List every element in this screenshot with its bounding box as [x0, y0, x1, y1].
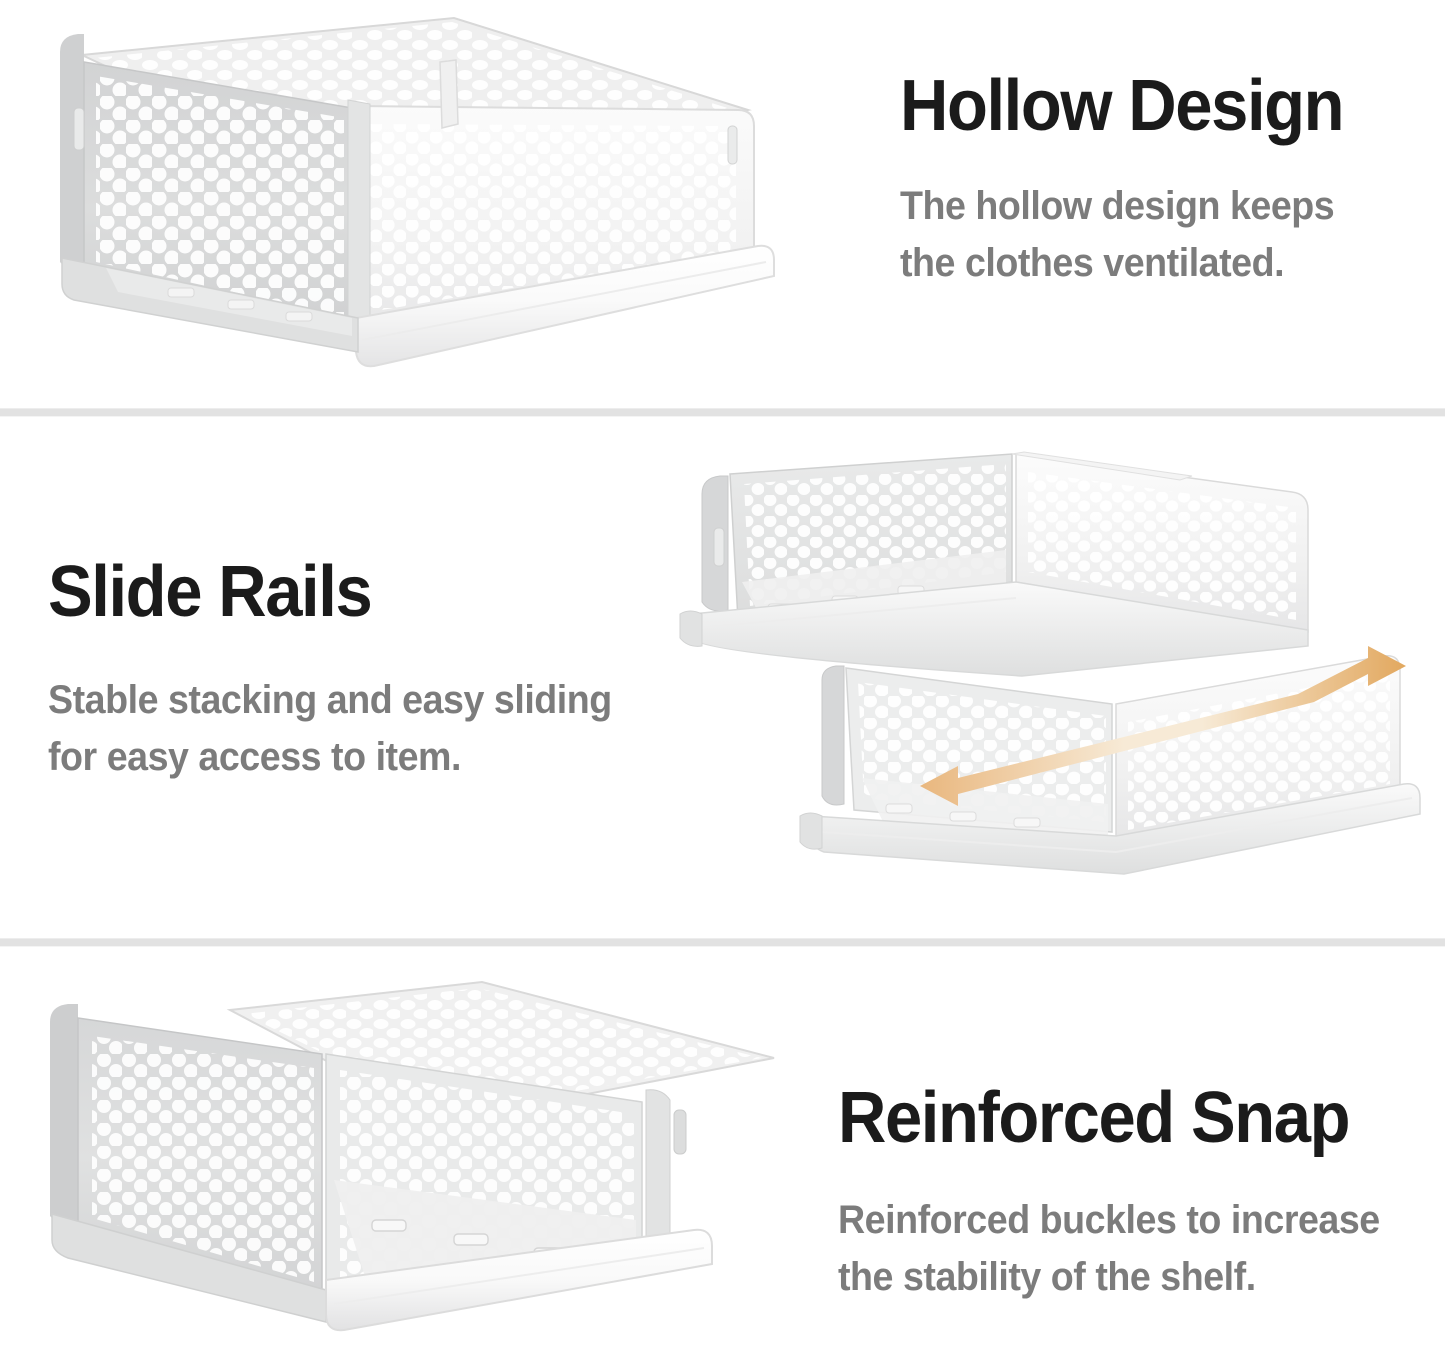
feature-text-slide-rails: Slide Rails Stable stacking and easy sli…: [48, 556, 708, 786]
upper-basket: [680, 452, 1308, 676]
product-image-slide-rails: [672, 432, 1432, 922]
feature-body-line-2: for easy access to item.: [48, 735, 461, 779]
product-image-hollow-design: [22, 0, 802, 400]
feature-text-hollow-design: Hollow Design The hollow design keeps th…: [900, 70, 1420, 292]
hinge-tab: [440, 60, 458, 128]
buckle-slot: [714, 528, 724, 566]
feature-title-hollow-design: Hollow Design: [900, 70, 1384, 142]
feature-body-line-1: Stable stacking and easy sliding: [48, 678, 612, 722]
snap-buckle-1: [372, 1220, 406, 1231]
snap-buckle-2: [454, 1234, 488, 1245]
section-divider-1: [0, 408, 1445, 417]
section-divider-2: [0, 938, 1445, 947]
feature-body-hollow-design: The hollow design keeps the clothes vent…: [900, 178, 1389, 292]
corner-hinge-post: [348, 100, 370, 330]
feature-title-reinforced-snap: Reinforced Snap: [838, 1082, 1396, 1154]
product-image-reinforced-snap: [22, 962, 812, 1354]
feature-title-slide-rails: Slide Rails: [48, 556, 662, 628]
feature-body-line-2: the stability of the shelf.: [838, 1255, 1256, 1299]
feature-body-line-1: Reinforced buckles to increase: [838, 1198, 1380, 1242]
infographic-page: Hollow Design The hollow design keeps th…: [0, 0, 1445, 1358]
feature-body-slide-rails: Stable stacking and easy sliding for eas…: [48, 672, 668, 786]
feature-body-line-2: the clothes ventilated.: [900, 241, 1284, 285]
feature-text-reinforced-snap: Reinforced Snap Reinforced buckles to in…: [838, 1082, 1438, 1306]
buckle-slot: [674, 1110, 686, 1154]
feature-body-line-1: The hollow design keeps: [900, 184, 1334, 228]
feature-body-reinforced-snap: Reinforced buckles to increase the stabi…: [838, 1192, 1402, 1306]
